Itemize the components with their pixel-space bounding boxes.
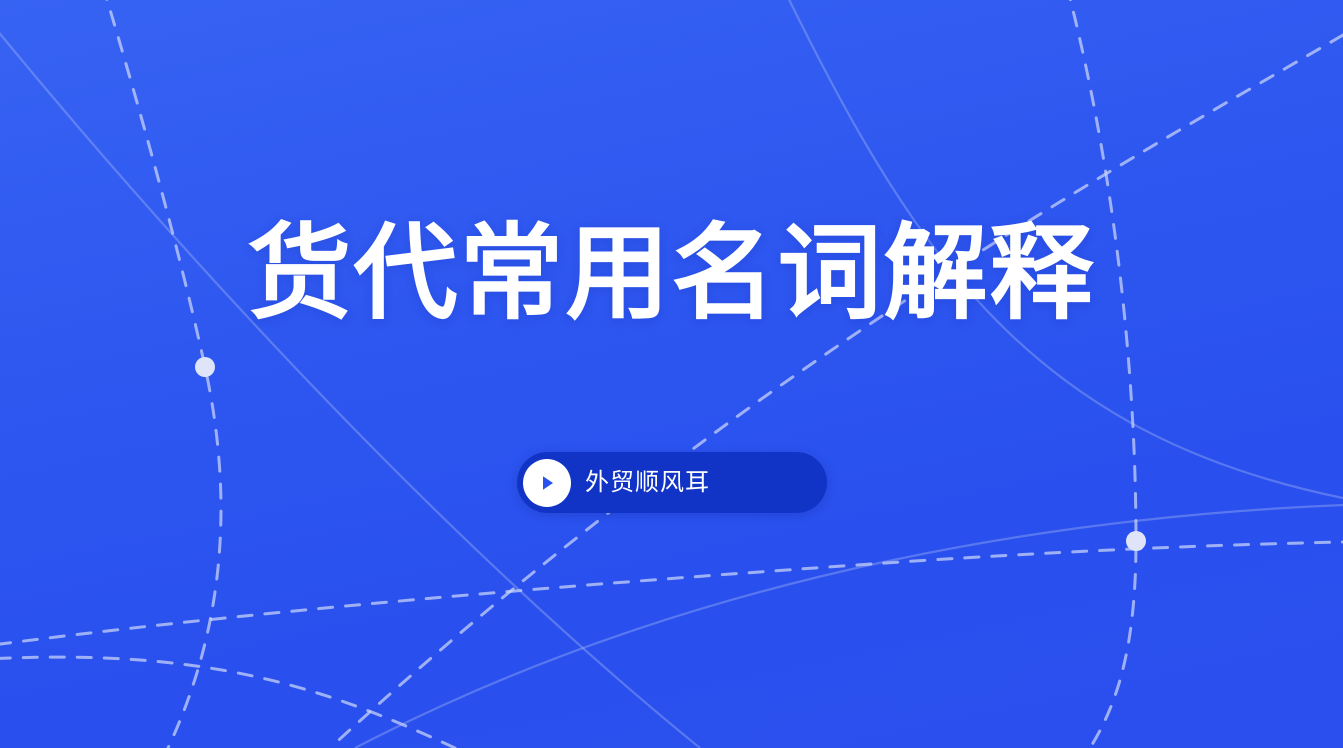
background-decoration xyxy=(0,0,1343,748)
source-pill[interactable]: 外贸顺风耳 xyxy=(517,452,827,513)
decor-solid-arc-bottomright xyxy=(355,505,1343,748)
source-pill-label: 外贸顺风耳 xyxy=(585,471,710,495)
slide-canvas: 货代常用名词解释 外贸顺风耳 xyxy=(0,0,1343,748)
decor-dashed-arc-bottomleft xyxy=(0,657,455,748)
decor-dot-left xyxy=(195,357,215,377)
decor-dashed-arc-left xyxy=(95,0,221,748)
title-block: 货代常用名词解释 xyxy=(0,216,1343,332)
play-icon[interactable] xyxy=(523,459,571,507)
page-title: 货代常用名词解释 xyxy=(247,216,1095,332)
decor-dashed-arc-topright xyxy=(330,35,1343,748)
decor-dot-right xyxy=(1126,531,1146,551)
decor-dashed-arc-bottom xyxy=(0,542,1343,648)
decor-solid-arc-left xyxy=(0,0,700,748)
decor-dashed-arc-right xyxy=(1060,0,1136,748)
